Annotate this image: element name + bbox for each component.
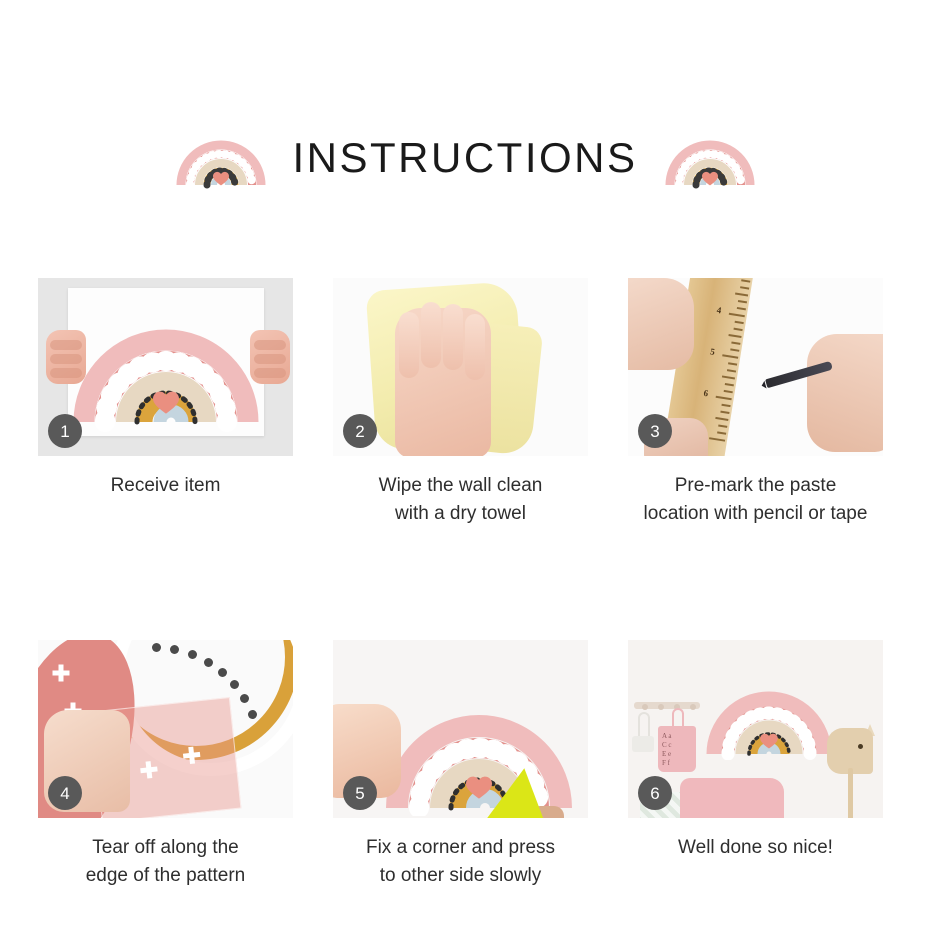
step-image-2: 2 [333, 278, 588, 456]
step-item-3: 4 5 6 7 3 Pre-mark the paste location wi… [628, 278, 883, 528]
caption-line: edge of the pattern [38, 862, 293, 890]
caption-line: Receive item [38, 472, 293, 500]
wiping-hand [395, 308, 491, 456]
step-caption-4: Tear off along the edge of the pattern [38, 834, 293, 890]
bag-letter-line: C c [662, 741, 672, 750]
printed-sheet [68, 288, 264, 436]
step-badge-1: 1 [48, 414, 82, 448]
rainbow-icon-left [175, 127, 267, 189]
step-item-6: A a C c E e F f 6 Well done so nice! [628, 640, 883, 890]
step-item-2: 2 Wipe the wall clean with a dry towel [333, 278, 588, 528]
instruction-steps-grid: 1 Receive item 2 Wipe the wall clean wit… [38, 278, 894, 890]
ruler-number: 5 [710, 346, 716, 357]
step-image-6: A a C c E e F f 6 [628, 640, 883, 818]
step-caption-6: Well done so nice! [628, 834, 883, 862]
caption-line: Fix a corner and press [333, 834, 588, 862]
caption-line: with a dry towel [333, 500, 588, 528]
step-badge-2: 2 [343, 414, 377, 448]
caption-line: location with pencil or tape [628, 500, 883, 528]
camera-strap [638, 712, 650, 738]
toy-camera [632, 736, 654, 752]
step-item-4: 4 Tear off along the edge of the pattern [38, 640, 293, 890]
hand-holding-pencil [807, 334, 883, 452]
step-badge-5: 5 [343, 776, 377, 810]
squeegee-tool [482, 764, 558, 818]
step-image-3: 4 5 6 7 3 [628, 278, 883, 456]
caption-line: Well done so nice! [628, 834, 883, 862]
bag-strap [672, 708, 684, 728]
bag-letters: A a C c E e F f [662, 732, 672, 768]
step-caption-2: Wipe the wall clean with a dry towel [333, 472, 588, 528]
rainbow-decal-art [704, 658, 834, 760]
step-badge-4: 4 [48, 776, 82, 810]
caption-line: Wipe the wall clean [333, 472, 588, 500]
rainbow-decal-art [68, 288, 264, 436]
ruler-number: 4 [716, 305, 722, 316]
pink-pillow [680, 778, 784, 818]
caption-line: to other side slowly [333, 862, 588, 890]
right-hand [250, 330, 290, 384]
step-image-1: 1 [38, 278, 293, 456]
unicorn-eye [858, 744, 863, 749]
bag-letter-line: E e [662, 750, 672, 759]
step-image-4: 4 [38, 640, 293, 818]
step-badge-3: 3 [638, 414, 672, 448]
step-caption-1: Receive item [38, 472, 293, 500]
hand-holding-ruler [628, 278, 694, 370]
step-badge-6: 6 [638, 776, 672, 810]
unicorn-stick [848, 768, 853, 818]
left-hand [46, 330, 86, 384]
bag-letter-line: A a [662, 732, 672, 741]
rainbow-icon-right [664, 127, 756, 189]
step-caption-5: Fix a corner and press to other side slo… [333, 834, 588, 890]
pink-letter-bag: A a C c E e F f [658, 726, 696, 772]
caption-line: Pre-mark the paste [628, 472, 883, 500]
bag-letter-line: F f [662, 759, 672, 768]
caption-line: Tear off along the [38, 834, 293, 862]
page-header: INSTRUCTIONS [0, 118, 930, 198]
ruler-number: 6 [703, 388, 709, 399]
step-image-5: 5 [333, 640, 588, 818]
step-item-1: 1 Receive item [38, 278, 293, 528]
page-title: INSTRUCTIONS [293, 137, 638, 179]
step-caption-3: Pre-mark the paste location with pencil … [628, 472, 883, 528]
step-item-5: 5 Fix a corner and press to other side s… [333, 640, 588, 890]
